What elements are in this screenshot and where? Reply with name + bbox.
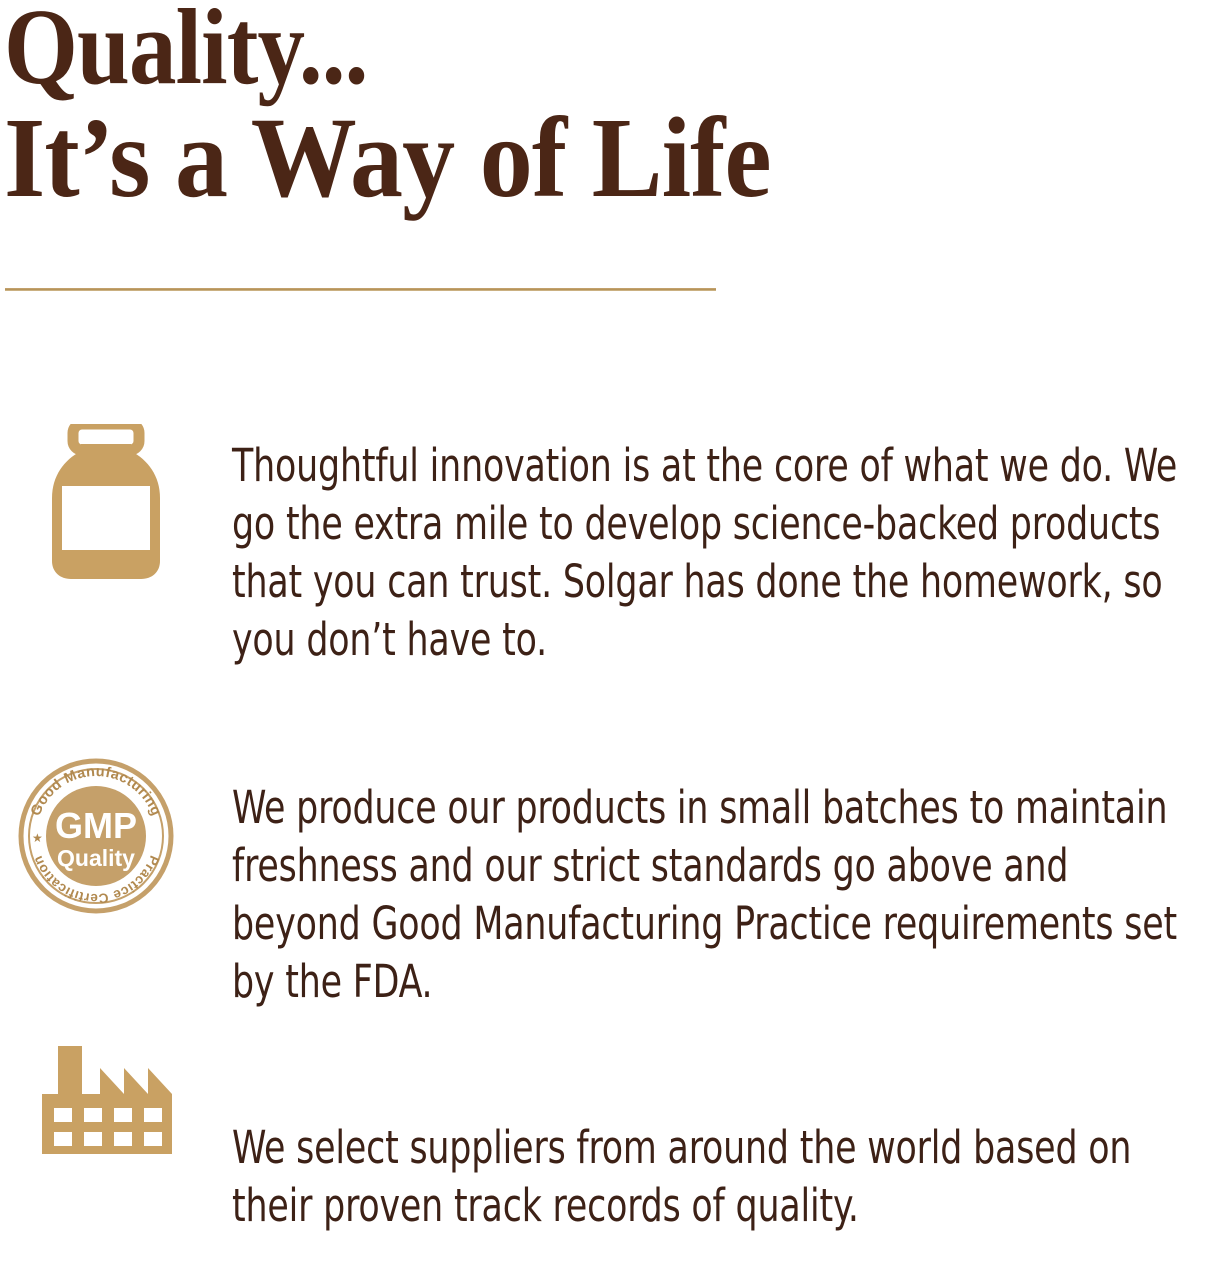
feature-row-gmp: Good Manufacturing Practice Certificatio… [0, 734, 1214, 1056]
feature-icon-cell [0, 392, 232, 393]
feature-text-suppliers: We select suppliers from around the worl… [232, 1119, 1204, 1235]
feature-icon-cell [0, 1074, 232, 1075]
feature-text-cell: We select suppliers from around the worl… [232, 1074, 1214, 1280]
factory-icon [38, 1046, 178, 1158]
feature-text-cell: Thoughtful innovation is at the core of … [232, 392, 1214, 714]
gmp-quality-seal-icon: Good Manufacturing Practice Certificatio… [16, 756, 176, 916]
gmp-center-sublabel: Quality [57, 845, 135, 871]
feature-list: Thoughtful innovation is at the core of … [0, 0, 1214, 1186]
supplement-bottle-icon [48, 424, 164, 579]
feature-icon-cell: Good Manufacturing Practice Certificatio… [0, 734, 232, 735]
feature-row-suppliers: We select suppliers from around the worl… [0, 1074, 1214, 1280]
gmp-center-label: GMP [55, 805, 137, 846]
feature-row-innovation: Thoughtful innovation is at the core of … [0, 392, 1214, 714]
quality-way-of-life-panel: Quality... It’s a Way of Life Tho [0, 0, 1214, 1186]
feature-text-innovation: Thoughtful innovation is at the core of … [232, 437, 1204, 669]
gmp-star-left: ★ [32, 831, 43, 845]
feature-text-cell: We produce our products in small batches… [232, 734, 1214, 1056]
feature-text-gmp: We produce our products in small batches… [232, 779, 1204, 1011]
